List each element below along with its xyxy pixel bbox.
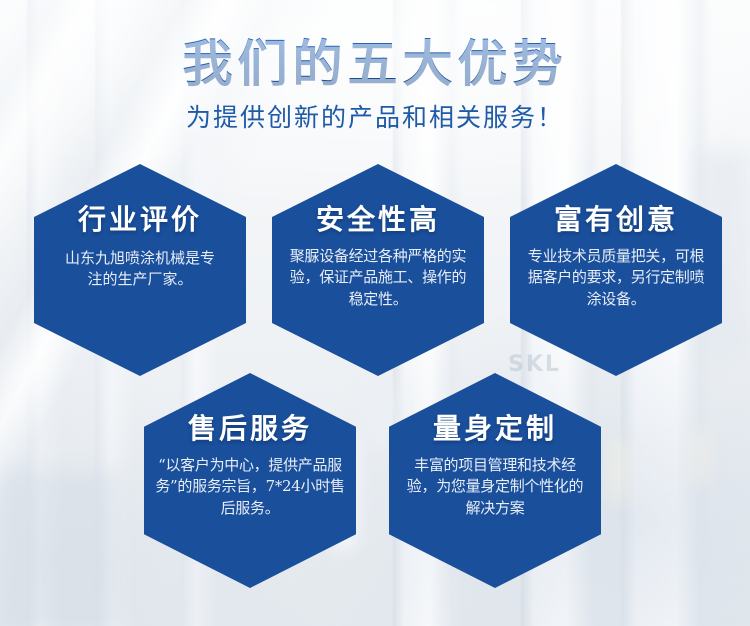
advantage-body: 山东九旭喷涂机械是专注的生产厂家。	[55, 248, 225, 291]
advantage-hex-high-safety[interactable]: 安全性高 聚脲设备经过各种严格的实验，保证产品施工、操作的稳定性。	[272, 164, 484, 376]
advantage-body: 专业技术员质量把关，可根据客户的要求，另行定制喷涂设备。	[517, 246, 715, 310]
advantage-title: 行业评价	[78, 206, 202, 234]
advantage-body: 聚脲设备经过各种严格的实验，保证产品施工、操作的稳定性。	[279, 246, 477, 310]
advantage-title: 售后服务	[188, 415, 312, 443]
background-shadow-1	[0, 470, 120, 626]
advantage-title: 安全性高	[316, 206, 440, 234]
advantage-hex-tailored-customization[interactable]: 量身定制 丰富的项目管理和技术经验，为您量身定制个性化的解决方案	[389, 373, 601, 588]
advantage-body: “以客户为中心，提供产品服务”的服务宗旨，7*24小时售后服务。	[149, 455, 351, 519]
advantage-body: 丰富的项目管理和技术经验，为您量身定制个性化的解决方案	[395, 455, 595, 519]
advantage-title: 量身定制	[433, 415, 557, 443]
page-subtitle: 为提供创新的产品和相关服务！	[0, 103, 750, 133]
advantage-title: 富有创意	[554, 206, 678, 234]
page-title: 我们的五大优势	[0, 36, 750, 92]
background-highlight-2	[612, 440, 626, 502]
advantage-hex-after-sales-service[interactable]: 售后服务 “以客户为中心，提供产品服务”的服务宗旨，7*24小时售后服务。	[144, 373, 356, 588]
advantage-hex-industry-rating[interactable]: 行业评价 山东九旭喷涂机械是专注的生产厂家。	[34, 164, 246, 376]
advantages-banner: SKL 我们的五大优势 为提供创新的产品和相关服务！ 行业评价 山东九旭喷涂机械…	[0, 0, 750, 626]
header: 我们的五大优势 为提供创新的产品和相关服务！	[0, 36, 750, 133]
advantage-hex-rich-creativity[interactable]: 富有创意 专业技术员质量把关，可根据客户的要求，另行定制喷涂设备。	[510, 164, 722, 376]
background-highlight-3	[694, 428, 708, 484]
background-watermark: SKL	[508, 352, 561, 377]
